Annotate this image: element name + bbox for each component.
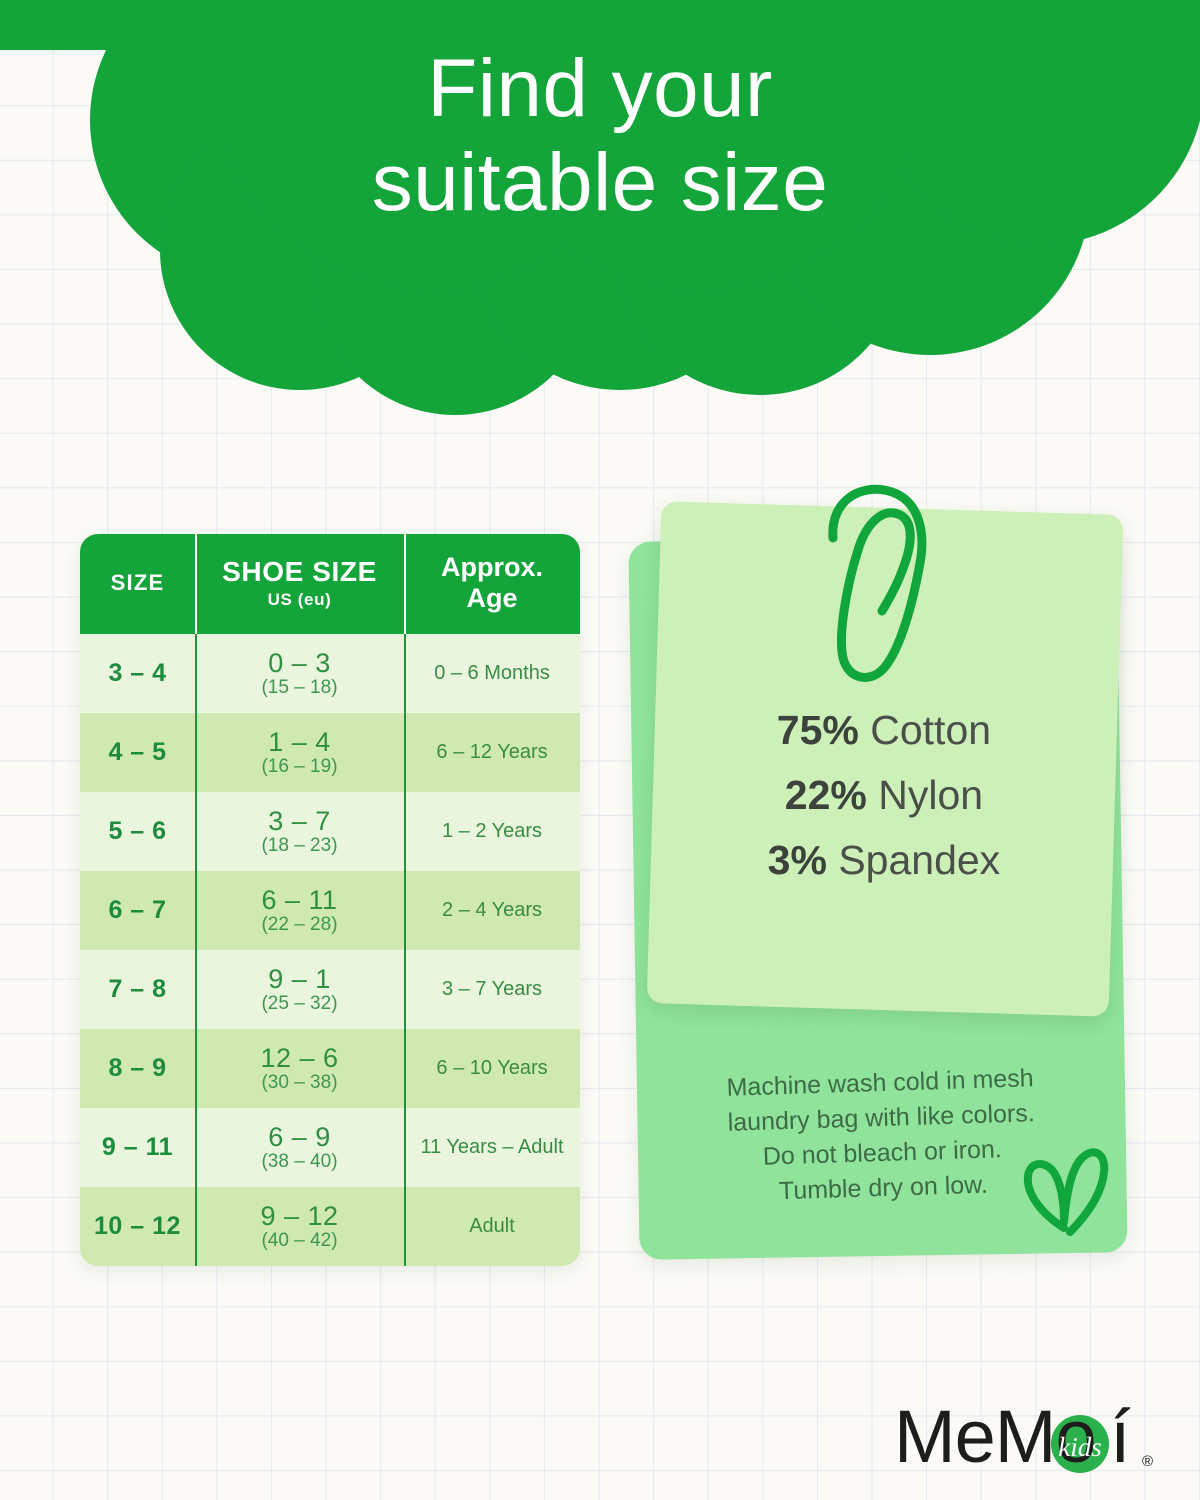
column-header-approx-age: Approx. Age [404, 534, 580, 634]
material-fiber: Nylon [878, 772, 983, 818]
cell-approx-age: Adult [404, 1187, 580, 1266]
material-percent: 75% [777, 707, 859, 753]
cell-size: 6 – 7 [80, 871, 195, 950]
page-title: Find your suitable size [0, 42, 1200, 230]
table-row: 6 – 7 6 – 11 (22 – 28) 2 – 4 Years [80, 871, 580, 950]
cell-approx-age: 3 – 7 Years [404, 950, 580, 1029]
cell-size: 3 – 4 [80, 634, 195, 713]
material-item: 75% Cotton [653, 698, 1115, 763]
paperclip-icon [800, 478, 960, 688]
table-row: 9 – 11 6 – 9 (38 – 40) 11 Years – Adult [80, 1108, 580, 1187]
material-percent: 3% [768, 837, 827, 883]
cell-shoe-size: 3 – 7 (18 – 23) [195, 792, 404, 871]
column-header-size: SIZE [80, 534, 195, 634]
cell-approx-age: 11 Years – Adult [404, 1108, 580, 1187]
svg-text:®: ® [1142, 1453, 1153, 1470]
column-header-shoe-size: SHOE SIZE US (eu) [195, 534, 404, 634]
cell-shoe-size: 9 – 12 (40 – 42) [195, 1187, 404, 1266]
cell-shoe-size: 9 – 1 (25 – 32) [195, 950, 404, 1029]
cell-shoe-size: 1 – 4 (16 – 19) [195, 713, 404, 792]
svg-text:kids: kids [1058, 1432, 1102, 1462]
size-chart-table: SIZE SHOE SIZE US (eu) Approx. Age 3 – 4… [80, 534, 580, 1266]
cell-shoe-size: 6 – 9 (38 – 40) [195, 1108, 404, 1187]
cell-shoe-size: 12 – 6 (30 – 38) [195, 1029, 404, 1108]
table-row: 4 – 5 1 – 4 (16 – 19) 6 – 12 Years [80, 713, 580, 792]
cell-shoe-size: 0 – 3 (15 – 18) [195, 634, 404, 713]
heart-doodle-icon [1012, 1140, 1116, 1248]
cell-approx-age: 6 – 12 Years [404, 713, 580, 792]
cell-shoe-size: 6 – 11 (22 – 28) [195, 871, 404, 950]
cell-size: 4 – 5 [80, 713, 195, 792]
cell-size: 8 – 9 [80, 1029, 195, 1108]
material-list: 75% Cotton 22% Nylon 3% Spandex [653, 698, 1115, 893]
material-item: 22% Nylon [653, 763, 1115, 828]
cell-approx-age: 6 – 10 Years [404, 1029, 580, 1108]
cell-size: 10 – 12 [80, 1187, 195, 1266]
cell-size: 5 – 6 [80, 792, 195, 871]
material-fiber: Spandex [838, 837, 1000, 883]
cell-size: 7 – 8 [80, 950, 195, 1029]
material-item: 3% Spandex [653, 828, 1115, 893]
table-row: 8 – 9 12 – 6 (30 – 38) 6 – 10 Years [80, 1029, 580, 1108]
cell-approx-age: 1 – 2 Years [404, 792, 580, 871]
cell-size: 9 – 11 [80, 1108, 195, 1187]
table-header-row: SIZE SHOE SIZE US (eu) Approx. Age [80, 534, 580, 634]
cell-approx-age: 2 – 4 Years [404, 871, 580, 950]
table-row: 3 – 4 0 – 3 (15 – 18) 0 – 6 Months [80, 634, 580, 713]
table-row: 5 – 6 3 – 7 (18 – 23) 1 – 2 Years [80, 792, 580, 871]
table-row: 7 – 8 9 – 1 (25 – 32) 3 – 7 Years [80, 950, 580, 1029]
material-percent: 22% [785, 772, 867, 818]
svg-text:í: í [1110, 1396, 1131, 1478]
material-fiber: Cotton [870, 707, 991, 753]
cell-approx-age: 0 – 6 Months [404, 634, 580, 713]
table-row: 10 – 12 9 – 12 (40 – 42) Adult [80, 1187, 580, 1266]
brand-logo: MeMo kids í ® [894, 1396, 1154, 1480]
